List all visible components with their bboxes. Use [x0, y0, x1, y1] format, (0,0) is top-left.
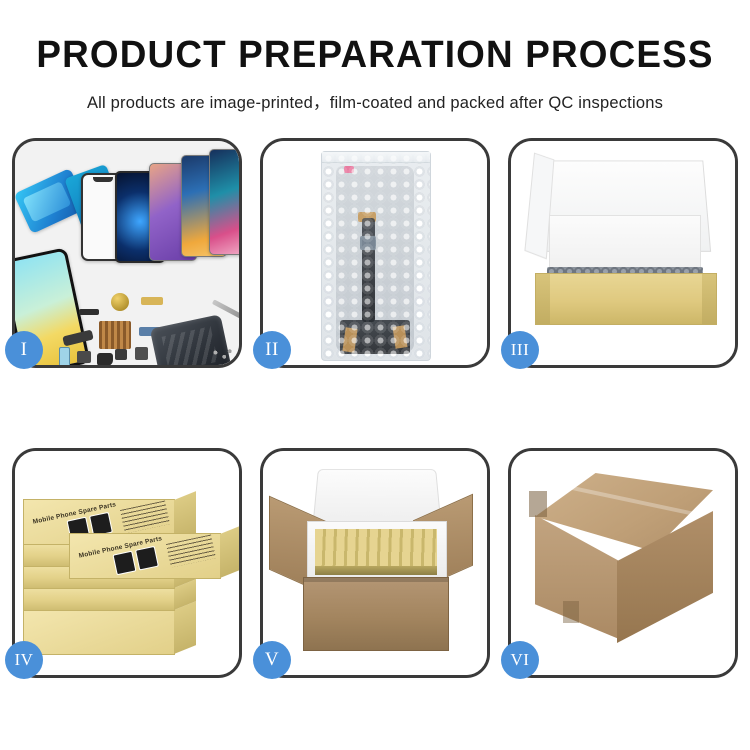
connector-part-icon — [97, 353, 113, 365]
speaker-part-icon — [79, 309, 99, 315]
yellow-box-base-icon — [535, 273, 717, 325]
carton-front-panel-icon — [303, 577, 449, 651]
retail-box-spec-lines-2 — [166, 534, 216, 567]
step-badge-2: II — [253, 331, 291, 369]
step-5-image — [263, 451, 487, 675]
step-panel-6[interactable]: VI — [508, 448, 738, 678]
screen-ribbon-cable-icon — [362, 218, 375, 322]
chip-grid-part-icon — [99, 321, 131, 349]
step-6-image — [511, 451, 735, 675]
flex-cable-part-icon — [141, 297, 163, 305]
step-badge-4: IV — [5, 641, 43, 679]
retail-box-front: Mobile Phone Spare Parts — [69, 533, 221, 579]
retail-box-spec-lines-1 — [120, 500, 170, 533]
bag-seal-icon — [322, 152, 430, 163]
step-badge-1: I — [5, 331, 43, 369]
step-4-image: Mobile Phone Spare Parts Mobile Phone Sp… — [15, 451, 239, 675]
header: PRODUCT PREPARATION PROCESS All products… — [0, 0, 750, 113]
camera-module-part-icon — [77, 351, 91, 363]
step-badge-6: VI — [501, 641, 539, 679]
carton-tape-top-icon — [529, 491, 547, 517]
small-component-part-icon — [115, 349, 127, 360]
steps-row-1: I — [0, 138, 750, 370]
vibrator-motor-part-icon — [111, 293, 129, 311]
bubble-wrap-bag-icon — [321, 151, 431, 361]
step-1-image — [15, 141, 239, 365]
steps-row-2: Mobile Phone Spare Parts Mobile Phone Sp… — [0, 448, 750, 680]
steps-grid: I — [0, 138, 750, 750]
phone-display-4-icon — [209, 149, 239, 255]
carton-tape-side-icon — [563, 601, 579, 623]
product-preparation-infographic: PRODUCT PREPARATION PROCESS All products… — [0, 0, 750, 750]
step-panel-4[interactable]: Mobile Phone Spare Parts Mobile Phone Sp… — [12, 448, 242, 678]
sim-tray-part-icon — [135, 347, 148, 360]
battery-part-icon — [59, 347, 70, 365]
pink-label-icon — [344, 166, 354, 173]
retail-box-4 — [23, 587, 175, 611]
step-panel-2[interactable]: II — [260, 138, 490, 368]
step-panel-3[interactable]: III — [508, 138, 738, 368]
driver-ic-icon — [360, 236, 376, 250]
step-panel-5[interactable]: V — [260, 448, 490, 678]
step-badge-5: V — [253, 641, 291, 679]
step-badge-3: III — [501, 331, 539, 369]
retail-box-5 — [23, 609, 175, 655]
step-3-image — [511, 141, 735, 365]
page-subtitle: All products are image-printed，film-coat… — [0, 89, 750, 113]
retail-box-stack-icon: Mobile Phone Spare Parts Mobile Phone Sp… — [23, 475, 233, 661]
step-2-image — [263, 141, 487, 365]
step-panel-1[interactable]: I — [12, 138, 242, 368]
screws-icon — [211, 347, 233, 361]
packed-yellow-boxes-icon — [315, 529, 437, 575]
page-title: PRODUCT PREPARATION PROCESS — [11, 36, 739, 74]
